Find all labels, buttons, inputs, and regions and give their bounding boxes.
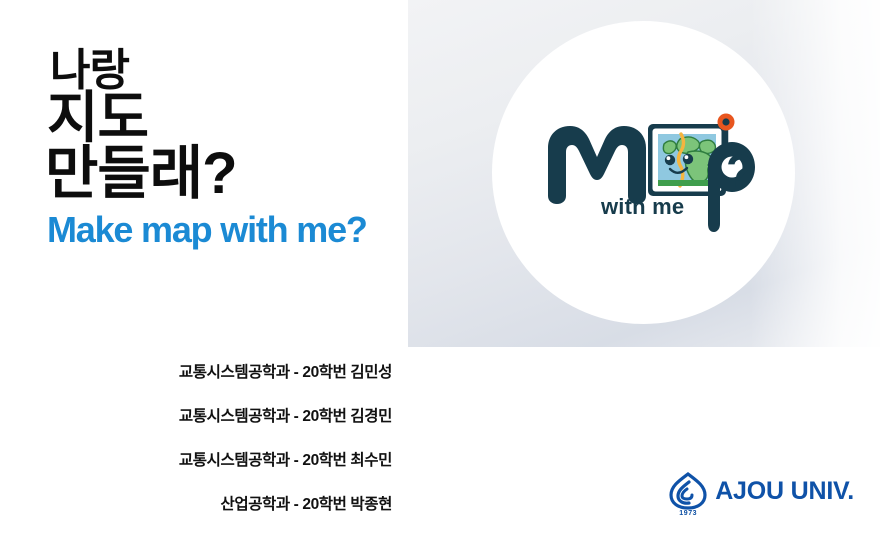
list-item: 산업공학과 - 20학번 박종현 <box>0 492 392 514</box>
list-item: 교통시스템공학과 - 20학번 최수민 <box>0 448 392 492</box>
logo-letter-m <box>548 126 646 204</box>
headline-korean-line-2: 지도 <box>47 91 405 145</box>
headline-korean-line-1: 나랑 <box>50 50 405 91</box>
list-item: 교통시스템공학과 - 20학번 김민성 <box>0 360 392 404</box>
university-logo: 1973 AJOU UNIV. <box>668 472 854 516</box>
logo-question-mark: ? <box>726 148 754 194</box>
ajou-emblem-icon: 1973 <box>668 472 708 516</box>
headline-english-subtitle: Make map with me? <box>47 211 405 249</box>
university-name: AJOU UNIV. <box>715 479 854 510</box>
university-founded-year: 1973 <box>668 510 708 517</box>
headline-block: 나랑 지도 만들래? Make map with me? <box>45 50 405 249</box>
team-member-list: 교통시스템공학과 - 20학번 김민성 교통시스템공학과 - 20학번 김경민 … <box>0 360 392 514</box>
list-item: 교통시스템공학과 - 20학번 김경민 <box>0 404 392 448</box>
headline-korean-line-3: 만들래? <box>45 145 405 203</box>
logo-tagline: with me <box>601 196 684 218</box>
presentation-title-slide: ? with me 나랑 지도 만들래? Make map with me? 교… <box>0 0 880 533</box>
